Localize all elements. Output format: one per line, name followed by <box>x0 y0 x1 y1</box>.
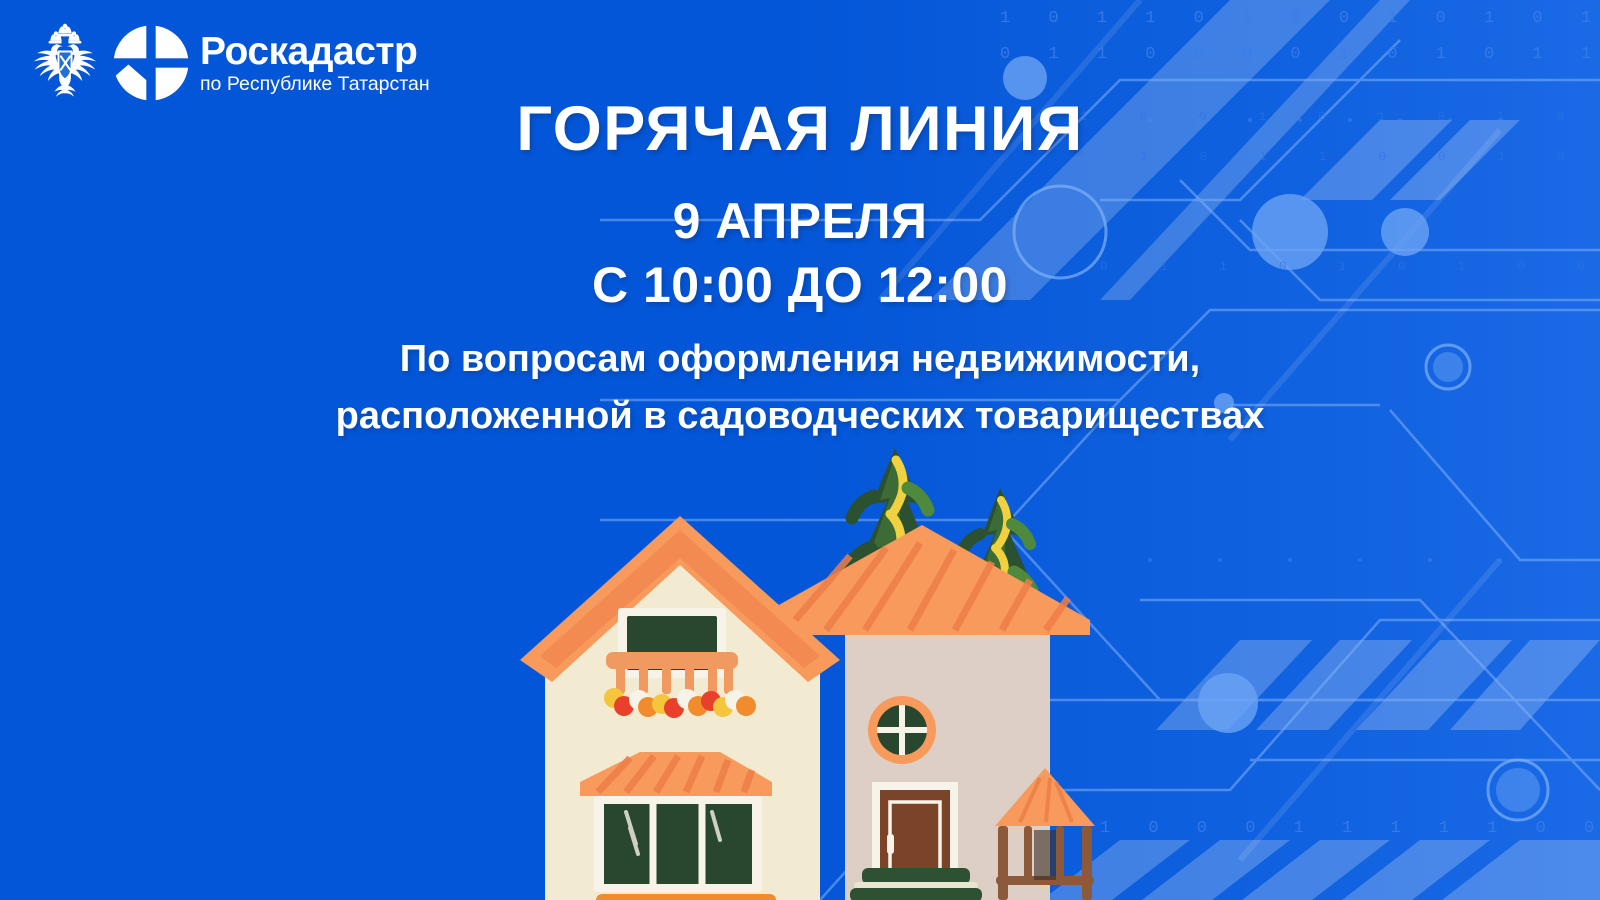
side-roof <box>752 525 1090 635</box>
roskadastr-circle-mark-icon <box>112 24 190 102</box>
logo-name: Роскадастр <box>200 32 430 71</box>
svg-text:1 0 1 1 0 1 0 0 1 0 1 0 1 0 0: 1 0 1 1 0 1 0 0 1 0 1 0 1 0 0 1 0 0 1 <box>1000 9 1600 28</box>
round-window <box>868 696 936 764</box>
roskadastr-logo: Роскадастр по Республике Татарстан <box>24 22 430 104</box>
event-time-range: С 10:00 ДО 12:00 <box>0 258 1600 312</box>
svg-text:1 0 0 0 1 1 1 1 1 0 0 1 0 1 0: 1 0 0 0 1 1 1 1 1 0 0 1 0 1 0 0 1 1 0 <box>1100 819 1600 838</box>
page-title: ГОРЯЧАЯ ЛИНИЯ <box>0 96 1600 162</box>
hotline-announcement-poster: 1 0 1 1 0 1 0 0 1 0 1 0 1 0 0 1 0 0 1 0 … <box>0 0 1600 900</box>
main-window <box>594 796 776 900</box>
entrance-steps <box>842 868 990 900</box>
logo-text-block: Роскадастр по Республике Татарстан <box>200 32 430 95</box>
svg-text:0 1 1 0 0 0 0 1 0 1 0 1 1 0 1: 0 1 1 0 0 0 0 1 0 1 0 1 1 0 1 0 1 1 0 <box>1000 45 1600 64</box>
headline-block: ГОРЯЧАЯ ЛИНИЯ 9 АПРЕЛЯ С 10:00 ДО 12:00 … <box>0 96 1600 443</box>
event-description-line-1: По вопросам оформления недвижимости, <box>0 334 1600 385</box>
logo-subtitle: по Республике Татарстан <box>200 75 430 95</box>
russian-coat-of-arms-eagle-icon <box>24 22 106 104</box>
country-house-illustration <box>490 430 1110 900</box>
event-date: 9 АПРЕЛЯ <box>0 194 1600 248</box>
